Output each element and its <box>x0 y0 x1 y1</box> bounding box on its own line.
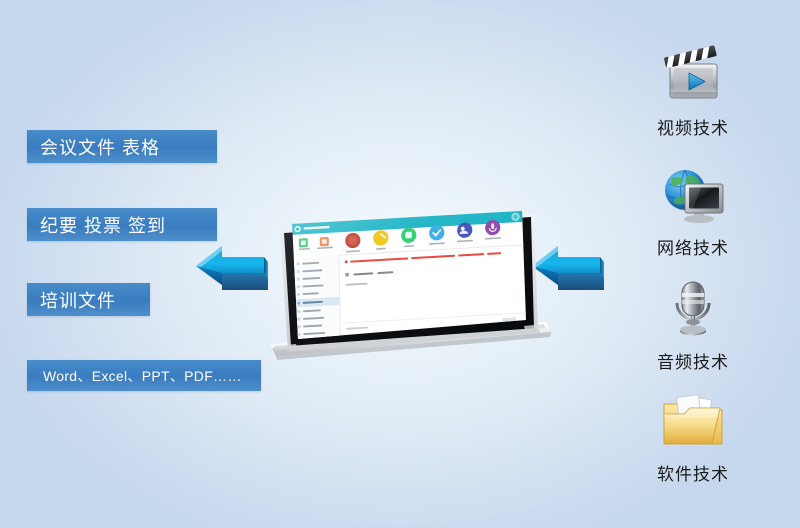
folder-documents-icon <box>618 384 768 458</box>
tech-item-software[interactable]: 软件技术 <box>618 384 768 485</box>
chip-meeting-files-label: 会议文件 表格 <box>40 134 160 160</box>
chip-file-formats-label: Word、Excel、PPT、PDF…… <box>43 366 242 386</box>
tech-item-audio[interactable]: 音频技术 <box>618 272 768 373</box>
chip-meeting-files[interactable]: 会议文件 表格 <box>27 130 217 163</box>
tech-label-software: 软件技术 <box>618 460 768 485</box>
chip-minutes-vote-signin[interactable]: 纪要 投票 签到 <box>27 208 217 241</box>
poster-canvas: 会议文件 表格 纪要 投票 签到 培训文件 Word、Excel、PPT、PDF… <box>0 0 800 528</box>
microphone-icon <box>618 272 768 346</box>
tech-item-network[interactable]: 网络技术 <box>618 158 768 259</box>
chip-training-files[interactable]: 培训文件 <box>27 283 150 316</box>
chip-file-formats[interactable]: Word、Excel、PPT、PDF…… <box>27 360 261 391</box>
tech-label-audio: 音频技术 <box>618 348 768 373</box>
tech-item-video[interactable]: 视频技术 <box>618 38 768 139</box>
tech-label-network: 网络技术 <box>618 234 768 259</box>
film-clapperboard-play-icon <box>618 38 768 112</box>
globe-monitor-network-icon <box>618 158 768 232</box>
tech-label-video: 视频技术 <box>618 114 768 139</box>
laptop-device <box>262 196 552 361</box>
chip-training-files-label: 培训文件 <box>40 287 116 313</box>
chip-minutes-vote-signin-label: 纪要 投票 签到 <box>40 212 166 238</box>
arrow-left-inner <box>192 240 268 296</box>
